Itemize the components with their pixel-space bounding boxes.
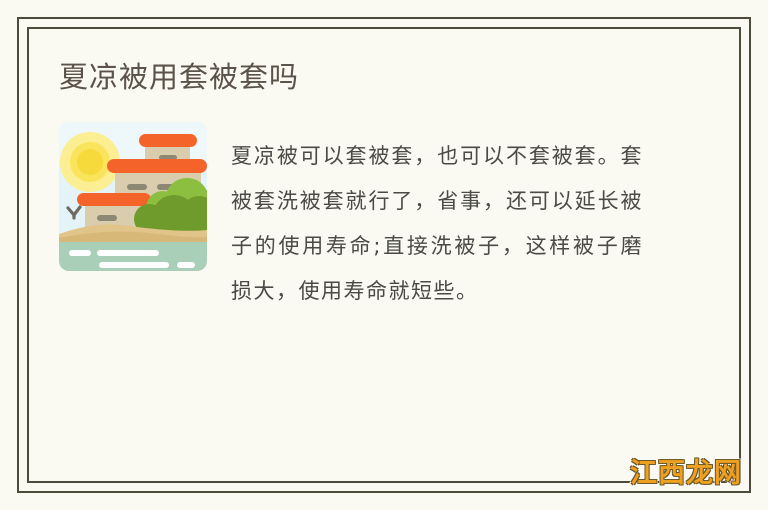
article-body: 夏凉被可以套被套，也可以不套被套。套被套洗被套就行了，省事，还可以延长被子的使用…	[59, 122, 710, 335]
article-content: 夏凉被用套被套吗	[28, 28, 740, 482]
page-title: 夏凉被用套被套吗	[59, 60, 710, 96]
terraced-houses-by-water-illustration	[59, 122, 207, 271]
site-watermark: 江西龙网	[630, 451, 742, 490]
article-paragraph: 夏凉被可以套被套，也可以不套被套。套被套洗被套就行了，省事，还可以延长被子的使用…	[231, 134, 643, 314]
article-page: 夏凉被用套被套吗	[0, 0, 768, 510]
